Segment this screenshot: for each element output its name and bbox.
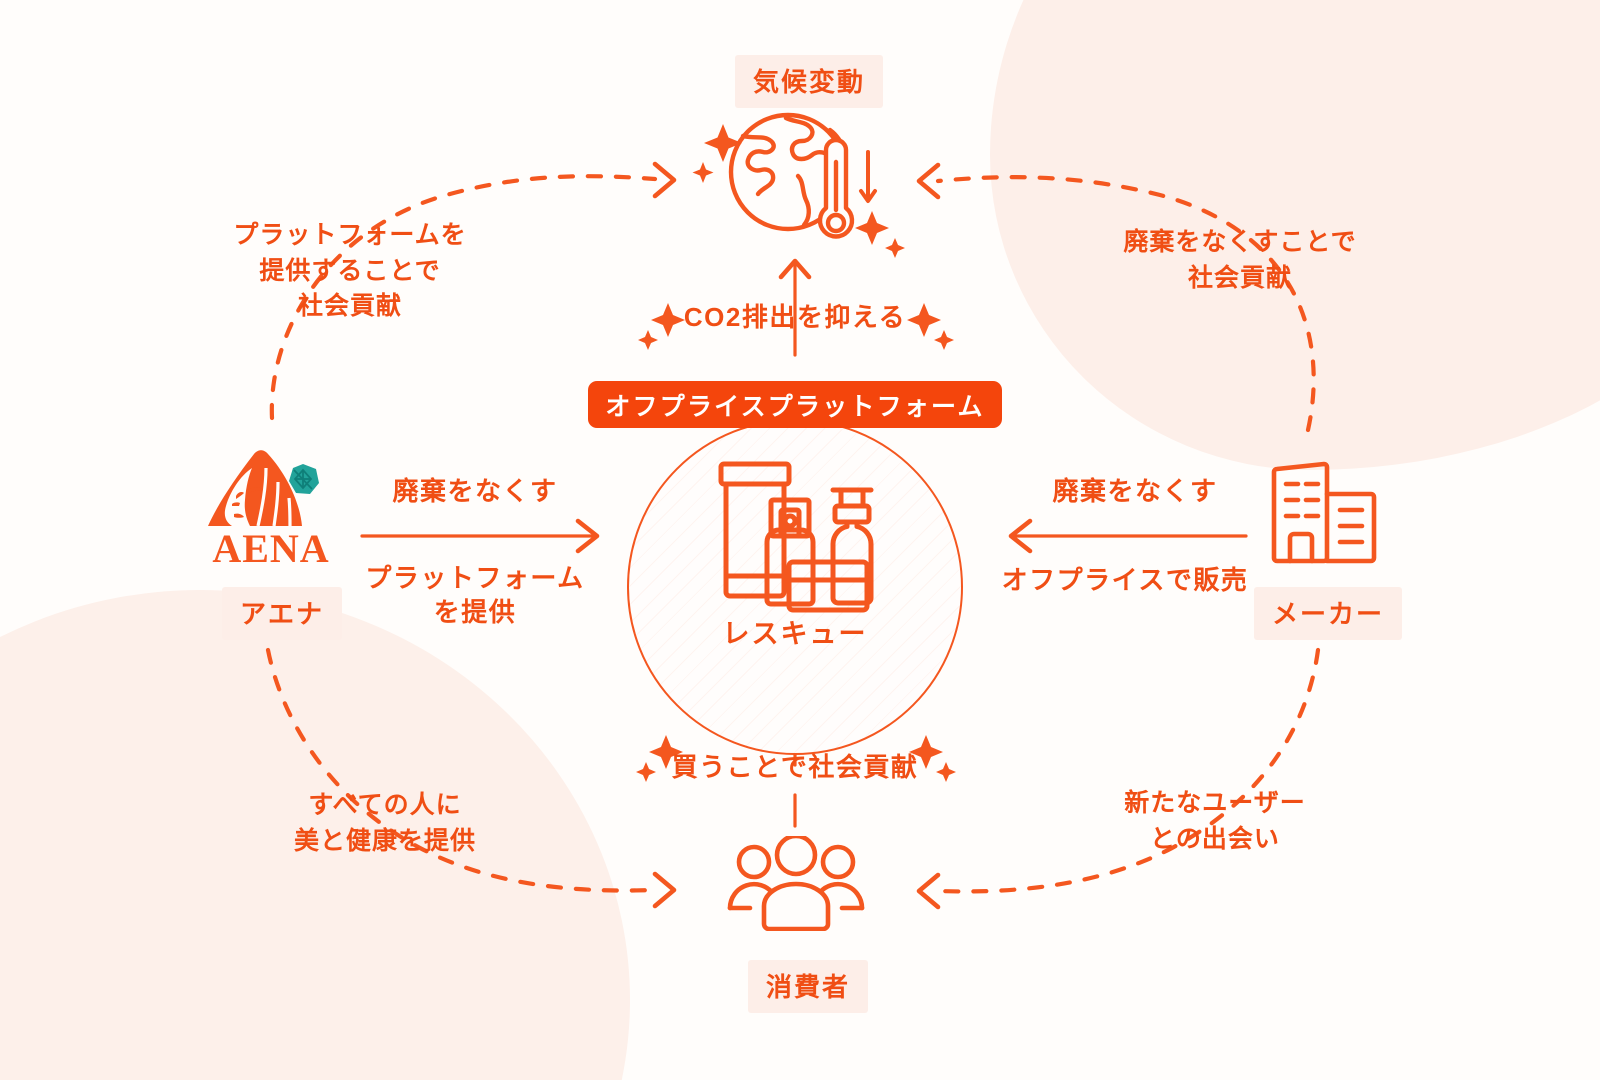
node-label-climate: 気候変動: [735, 55, 883, 108]
flow-label-aena-top: 廃棄をなくす: [330, 474, 620, 508]
people-group-icon: [726, 836, 866, 931]
flow-label-maker-top: 廃棄をなくす: [990, 474, 1280, 508]
node-label-consumer: 消費者: [748, 960, 868, 1013]
factory-building-icon: [1266, 458, 1381, 568]
rescue-label: レスキュー: [627, 612, 963, 651]
dashed-curve-aena-to-consumer: [268, 650, 674, 906]
svg-text:AENA: AENA: [212, 526, 329, 567]
caption-bottom-left: すべての人に 美と健康を提供: [250, 788, 520, 859]
diagram-canvas: .sl { fill:none; stroke:#f4571f; stroke-…: [0, 0, 1600, 1080]
cosmetics-products-icon: [693, 452, 898, 617]
flow-label-maker-bottom: オフプライスで販売: [965, 563, 1285, 597]
arrow-aena-to-platform: [362, 521, 597, 551]
caption-top-right: 廃棄をなくすことで 社会貢献: [1085, 225, 1395, 296]
globe-thermometer-icon: [718, 108, 883, 253]
node-label-aena: アエナ: [222, 587, 342, 640]
flow-label-aena-bottom: プラットフォーム を提供: [330, 561, 620, 630]
caption-bottom-right: 新たなユーザー との出会い: [1075, 786, 1355, 857]
dashed-curve-maker-to-consumer: [919, 650, 1318, 907]
offprice-platform-badge[interactable]: オフプライスプラットフォーム: [588, 381, 1002, 428]
caption-top-left: プラットフォームを 提供することで 社会貢献: [205, 218, 495, 325]
flow-label-co2: CO2排出を抑える: [645, 300, 945, 334]
flow-label-consumer: 買うことで社会貢献: [645, 750, 945, 784]
arrow-maker-to-platform: [1011, 521, 1246, 551]
aena-logo: AENA: [196, 442, 346, 567]
